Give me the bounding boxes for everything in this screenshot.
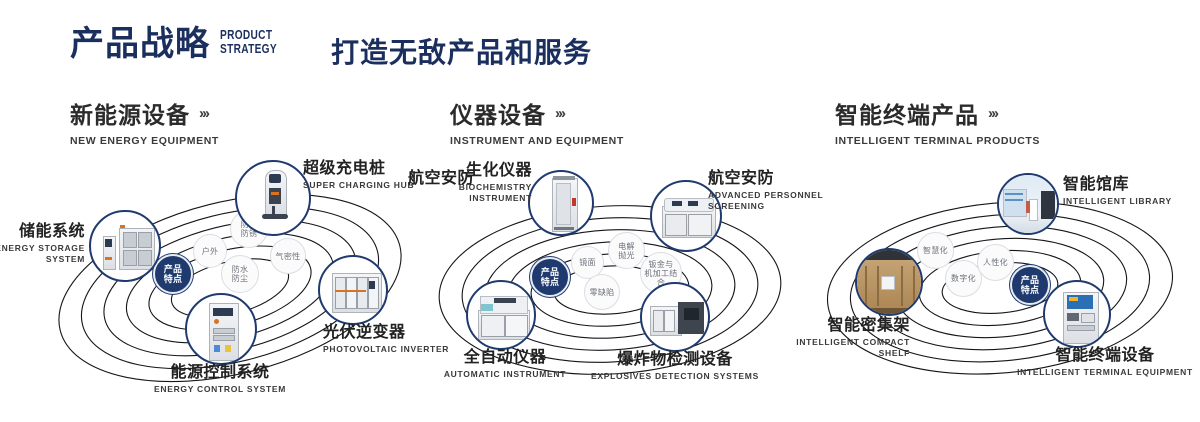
- product-node-biochemistry[interactable]: [528, 170, 594, 236]
- node-label-en: ENERGY STORAGE SYSTEM: [0, 243, 85, 265]
- pv-inverter-cabinet-icon: [320, 257, 386, 323]
- node-label-aviation-security-left: 航空安防: [408, 169, 474, 188]
- node-label-en: AUTOMATIC INSTRUMENT: [410, 369, 600, 380]
- section-title-cn: 仪器设备 ›››: [450, 96, 624, 130]
- node-label-en: INTELLIGENT LIBRARY: [1063, 196, 1172, 207]
- core-bubble-line1: 产品: [541, 267, 560, 277]
- core-bubble: 产品 特点: [1010, 265, 1050, 305]
- energy-storage-cabinet-icon: [91, 212, 159, 280]
- self-service-kiosk-icon: [1045, 282, 1109, 346]
- page-title-english: PRODUCT STRATEGY: [220, 28, 277, 56]
- product-node-energy-storage[interactable]: [89, 210, 161, 282]
- section-header-intelligent-terminal: 智能终端产品 ››› INTELLIGENT TERMINAL PRODUCTS: [835, 96, 1040, 147]
- section-header-new-energy: 新能源设备 ››› NEW ENERGY EQUIPMENT: [70, 96, 219, 147]
- node-label-en: ENERGY CONTROL SYSTEM: [130, 384, 310, 395]
- product-node-intelligent-library[interactable]: [997, 173, 1059, 235]
- section-title-en: NEW ENERGY EQUIPMENT: [70, 135, 219, 147]
- node-label-energy-storage: 储能系统 ENERGY STORAGE SYSTEM: [0, 222, 85, 265]
- feature-line1: 镜面: [579, 258, 596, 267]
- page-title: 产品战略: [70, 24, 210, 64]
- core-bubble: 产品 特点: [530, 257, 570, 297]
- node-label-explosives-detection: 爆炸物检测设备 EXPLOSIVES DETECTION SYSTEMS: [570, 350, 780, 382]
- chevron-right-icon: ›››: [988, 106, 997, 121]
- core-bubble-line1: 产品: [164, 264, 183, 274]
- section-title-en: INTELLIGENT TERMINAL PRODUCTS: [835, 135, 1040, 147]
- feature-line1: 人性化: [983, 258, 1008, 267]
- product-node-pv-inverter[interactable]: [318, 255, 388, 325]
- product-node-explosives-detection[interactable]: [640, 282, 710, 352]
- section-title-text: 仪器设备: [450, 96, 546, 130]
- node-label-cn: 能源控制系统: [130, 363, 310, 382]
- product-node-compact-shelf[interactable]: [855, 248, 923, 316]
- section-title-en: INSTRUMENT AND EQUIPMENT: [450, 135, 624, 147]
- core-bubble-line1: 产品: [1021, 275, 1040, 285]
- core-bubble-line2: 特点: [1021, 285, 1040, 295]
- biochemistry-scanner-icon: [530, 172, 592, 234]
- node-label-cn: 智能密集架: [765, 316, 910, 335]
- node-label-cn: 爆炸物检测设备: [570, 350, 780, 369]
- node-label-charging-hub: 超级充电桩 SUPER CHARGING HUB: [303, 159, 414, 191]
- feature-bubble-humanized: 人性化: [977, 244, 1014, 281]
- section-title-text: 智能终端产品: [835, 96, 979, 130]
- core-bubble-line2: 特点: [164, 274, 183, 284]
- feature-line1: 防水: [232, 265, 249, 274]
- cluster-intelligent-terminal: 产品 特点 智慧化 数字化 人性化 智能馆库: [805, 160, 1200, 410]
- node-label-en: INTELLIGENT TERMINAL EQUIPMENT: [1010, 367, 1200, 378]
- feature-line2: 抛光: [618, 251, 635, 260]
- product-node-terminal-equipment[interactable]: [1043, 280, 1111, 348]
- section-header-instrument: 仪器设备 ››› INSTRUMENT AND EQUIPMENT: [450, 96, 624, 147]
- feature-bubble-waterproof: 防水 防尘: [221, 255, 259, 293]
- feature-line1: 户外: [202, 247, 219, 256]
- node-label-energy-control: 能源控制系统 ENERGY CONTROL SYSTEM: [130, 363, 310, 395]
- node-label-en: SUPER CHARGING HUB: [303, 180, 414, 191]
- product-node-energy-control[interactable]: [185, 293, 257, 365]
- feature-line2: 防尘: [232, 274, 249, 283]
- feature-line1: 智慧化: [923, 246, 948, 255]
- section-title-cn: 新能源设备 ›››: [70, 96, 219, 130]
- feature-bubble-outdoor: 户外: [193, 234, 227, 268]
- poster-canvas: 产品战略 PRODUCT STRATEGY 打造无敌产品和服务 新能源设备 ››…: [0, 0, 1200, 422]
- node-label-terminal-equipment: 智能终端设备 INTELLIGENT TERMINAL EQUIPMENT: [1010, 346, 1200, 378]
- page-subtitle: 打造无敌产品和服务: [331, 31, 592, 71]
- page-header: 产品战略 PRODUCT STRATEGY: [70, 24, 293, 64]
- node-label-intelligent-library: 智能馆库 INTELLIGENT LIBRARY: [1063, 175, 1172, 207]
- node-label-cn: 全自动仪器: [410, 348, 600, 367]
- explosives-detector-icon: [642, 284, 708, 350]
- library-room-icon: [999, 175, 1057, 233]
- node-label-cn: 智能馆库: [1063, 175, 1172, 194]
- node-label-cn: 储能系统: [0, 222, 85, 241]
- title-en-line1: PRODUCT: [220, 28, 277, 42]
- title-en-line2: STRATEGY: [220, 42, 277, 56]
- node-label-compact-shelf: 智能密集架 INTELLIGENT COMPACT SHELF: [765, 316, 910, 359]
- feature-bubble-airtight: 气密性: [270, 238, 306, 274]
- node-label-en: EXPLOSIVES DETECTION SYSTEMS: [570, 371, 780, 382]
- compact-shelf-icon: [857, 250, 921, 314]
- node-label-en: INTELLIGENT COMPACT SHELF: [765, 337, 910, 359]
- feature-line1: 数字化: [951, 274, 976, 283]
- section-title-text: 新能源设备: [70, 96, 190, 130]
- product-node-automatic-instrument[interactable]: [466, 280, 536, 350]
- feature-bubble-zero-defect: 零缺陷: [584, 274, 620, 310]
- chevron-right-icon: ›››: [199, 106, 208, 121]
- product-node-charging-hub[interactable]: [235, 160, 311, 236]
- core-bubble: 产品 特点: [153, 254, 193, 294]
- feature-line1: 钣金与: [641, 260, 681, 269]
- core-bubble-line2: 特点: [541, 277, 560, 287]
- node-label-cn: 智能终端设备: [1010, 346, 1200, 365]
- charging-pile-icon: [237, 162, 309, 234]
- section-title-cn: 智能终端产品 ›››: [835, 96, 1040, 130]
- feature-line1: 电解: [618, 242, 635, 251]
- node-label-automatic-instrument: 全自动仪器 AUTOMATIC INSTRUMENT: [410, 348, 600, 380]
- chevron-right-icon: ›››: [555, 106, 564, 121]
- feature-bubble-electropolish: 电解 抛光: [608, 232, 645, 269]
- automatic-analyzer-icon: [468, 282, 534, 348]
- node-label-cn: 航空安防: [408, 169, 474, 188]
- control-cabinet-icon: [187, 295, 255, 363]
- feature-line1: 零缺陷: [590, 288, 615, 297]
- cluster-new-energy: 产品 特点 户外 防腐 防锈 防水 防尘 气密性: [35, 160, 435, 410]
- node-label-cn: 超级充电桩: [303, 159, 414, 178]
- feature-bubble-intelligent: 智慧化: [917, 232, 954, 269]
- feature-line1: 气密性: [276, 252, 301, 261]
- cluster-instrument: 产品 特点 镜面 电解 抛光 零缺陷 钣金与 机加工结合: [418, 160, 818, 410]
